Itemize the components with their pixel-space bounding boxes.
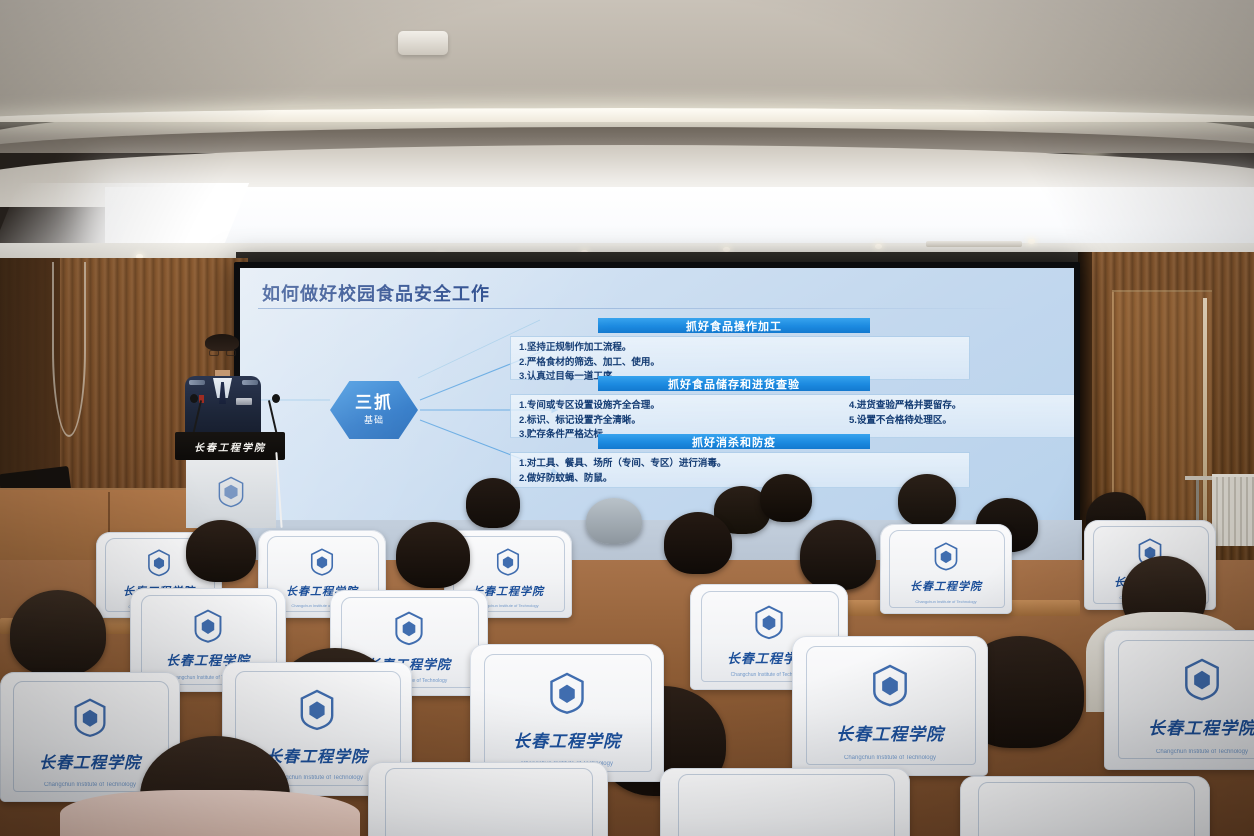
section-2-item-5: 5.设置不合格待处理区。 <box>849 414 1058 429</box>
hub-sub-label: 基础 <box>364 413 384 426</box>
section-2-item-4: 4.进货查验严格并要留存。 <box>849 399 1058 414</box>
hub-main-label: 三抓 <box>355 394 393 412</box>
audience-head <box>466 478 520 528</box>
section-body-3: 1.对工具、餐具、场所（专间、专区）进行消毒。 2.做好防蚊蝇、防鼠。 <box>510 452 970 488</box>
podium-emblem-icon <box>216 476 246 508</box>
section-1-item-2: 2.严格食材的筛选、加工、使用。 <box>519 356 784 371</box>
section-body-1: 1.坚持正规制作加工流程。 2.严格食材的筛选、加工、使用。 3.认真过目每一道… <box>510 336 970 380</box>
section-heading-3: 抓好消杀和防疫 <box>598 434 870 449</box>
microphone-head-right <box>272 394 280 403</box>
university-emblem-icon <box>308 548 336 576</box>
chair-label-cn: 长春工程学院 <box>478 727 656 752</box>
speaker-head <box>207 338 237 374</box>
audience-head <box>898 474 956 526</box>
university-emblem-icon <box>546 672 589 715</box>
smoke-detector-icon <box>398 31 448 55</box>
air-vent-2 <box>926 241 1022 247</box>
chair-label-en: Changchun Institute of Technology <box>883 599 1010 604</box>
section-1-item-1: 1.坚持正规制作加工流程。 <box>519 341 784 356</box>
chair-front-3[interactable] <box>960 776 1210 836</box>
audience-shoulders-foreground <box>60 790 360 836</box>
chair-r3-4[interactable]: 长春工程学院 Changchun Institute of Technology <box>792 636 988 776</box>
audience-head <box>10 590 106 676</box>
chair-r1-4[interactable]: 长春工程学院 Changchun Institute of Technology <box>880 524 1012 614</box>
glasses-icon <box>209 350 236 356</box>
section-3-item-1: 1.对工具、餐具、场所（专间、专区）进行消毒。 <box>519 457 961 472</box>
chair-label-cn: 长春工程学院 <box>885 578 1006 594</box>
ceiling-light-panel <box>105 187 1254 249</box>
speaker-name-badge <box>236 398 252 405</box>
university-emblem-icon <box>752 605 787 640</box>
radiator-icon <box>1212 474 1254 546</box>
university-emblem-icon <box>868 664 911 707</box>
podium-label: 长春工程学院 <box>194 439 266 454</box>
audience-head <box>760 474 812 522</box>
university-emblem-icon <box>392 611 427 646</box>
university-emblem-icon <box>931 542 960 571</box>
audience-head <box>396 522 470 588</box>
chair-front-2[interactable] <box>660 768 910 836</box>
audience-head <box>186 520 256 582</box>
chair-label-cn: 长春工程学院 <box>1112 714 1254 739</box>
section-2-column-right: 4.进货查验严格并要留存。 5.设置不合格待处理区。 <box>849 399 1058 428</box>
university-emblem-icon <box>70 698 110 738</box>
chair-label-en: Changchun Institute of Technology <box>796 755 984 761</box>
audience-head <box>586 498 642 544</box>
section-2-item-2: 2.标识、标记设置齐全清晰。 <box>519 414 849 429</box>
microphone-head-left <box>190 394 198 403</box>
speaker-epaulet-left <box>189 380 205 385</box>
section-heading-1: 抓好食品操作加工 <box>598 318 870 333</box>
university-emblem-icon <box>191 609 225 643</box>
chair-label-cn: 长春工程学院 <box>800 720 980 745</box>
chair-front-1[interactable] <box>368 762 608 836</box>
university-emblem-icon <box>494 548 522 576</box>
section-3-column-left: 1.对工具、餐具、场所（专间、专区）进行消毒。 2.做好防蚊蝇、防鼠。 <box>519 457 961 486</box>
chair-label-en: Changchun Institute of Technology <box>1108 749 1254 755</box>
chair-r3-5[interactable]: 长春工程学院 Changchun Institute of Technology <box>1104 630 1254 770</box>
audience-head <box>664 512 732 574</box>
university-emblem-icon <box>1180 658 1223 701</box>
hanging-cable <box>52 262 86 437</box>
section-3-item-2: 2.做好防蚊蝇、防鼠。 <box>519 472 961 487</box>
lecture-hall-photo: 如何做好校园食品安全工作 三抓 基础 抓好食品操作加工 1.坚持正规制作加工流程… <box>0 0 1254 836</box>
section-heading-2: 抓好食品储存和进货查验 <box>598 376 870 391</box>
university-emblem-icon <box>145 549 173 577</box>
section-2-item-1: 1.专间或专区设置设施齐全合理。 <box>519 399 849 414</box>
speaker-epaulet-right <box>242 380 258 385</box>
section-body-2: 1.专间或专区设置设施齐全合理。 2.标识、标记设置齐全清晰。 3.贮存条件严格… <box>510 394 1074 438</box>
university-emblem-icon <box>296 689 338 731</box>
podium: 长春工程学院 <box>175 432 285 460</box>
mini-downlight-6 <box>875 244 882 249</box>
audience-head <box>800 520 876 590</box>
mini-downlight-7 <box>1028 239 1035 244</box>
